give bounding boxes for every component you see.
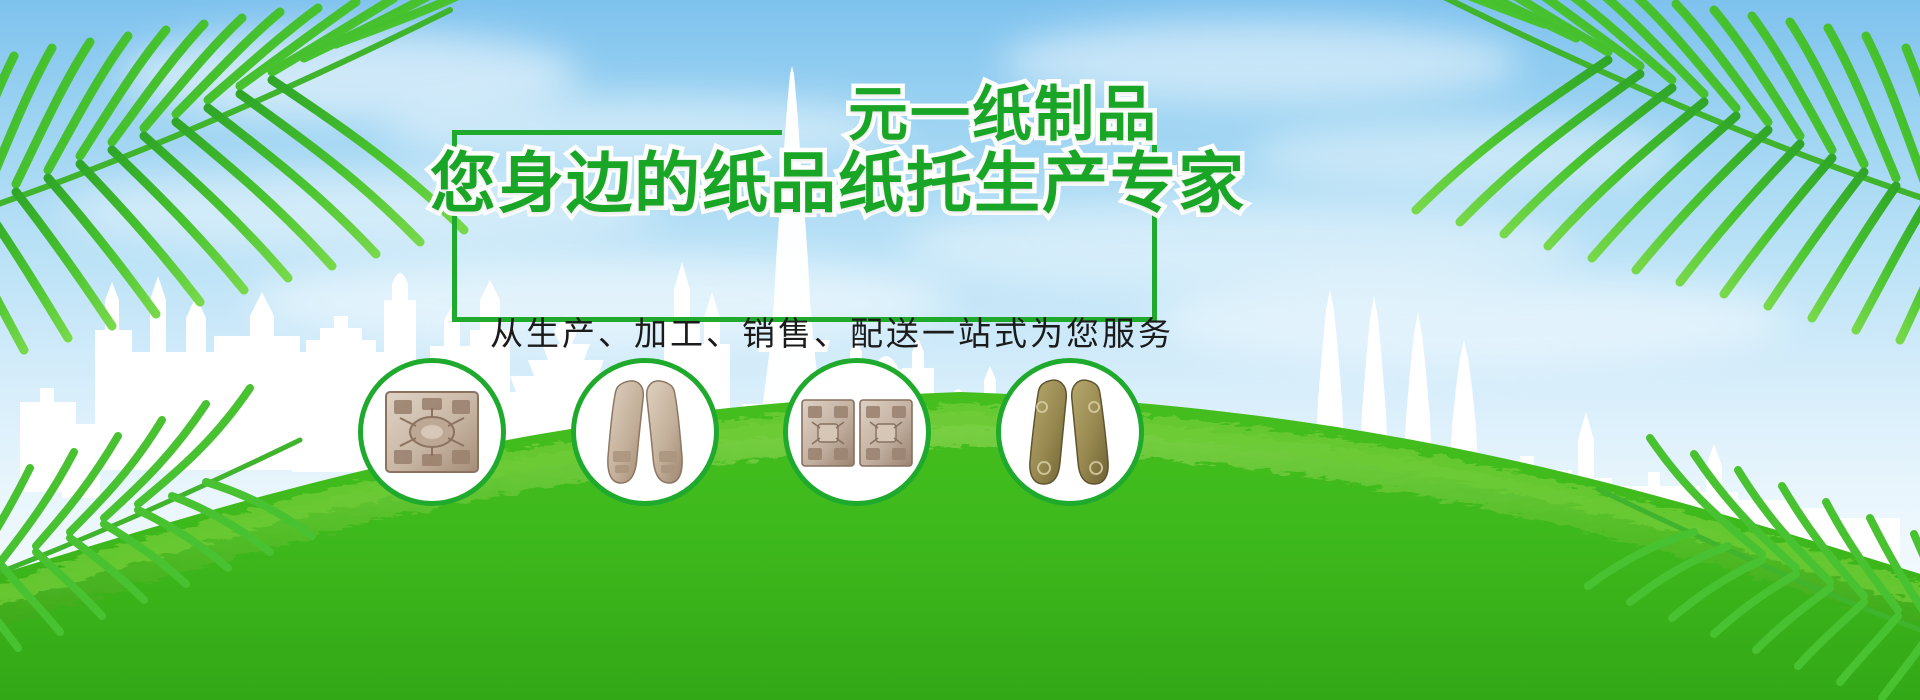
product-circle-4[interactable]: [996, 358, 1144, 506]
molded-pulp-square-tray-image: [378, 378, 486, 486]
product-circle-row: [0, 0, 1920, 700]
molded-pulp-shoe-tree-pair-image: [593, 373, 697, 491]
molded-pulp-shoe-support-pair-image: [1016, 376, 1124, 488]
product-circle-2[interactable]: [571, 358, 719, 506]
molded-pulp-corner-protectors-image: [798, 386, 916, 478]
promo-banner: 元一纸制品 您身边的纸品纸托生产专家 从生产、加工、销售、配送一站式为您服务: [0, 0, 1920, 700]
product-circle-3[interactable]: [783, 358, 931, 506]
product-circle-1[interactable]: [358, 358, 506, 506]
